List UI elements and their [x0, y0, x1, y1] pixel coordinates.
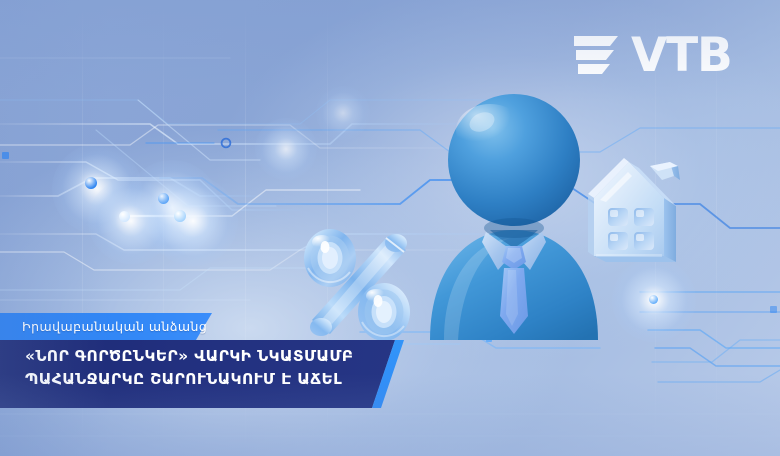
banner-vignette [0, 0, 780, 456]
vtb-promo-banner: Իրավաբանական անձանց «ՆՈՐ ԳՈՐԾԸՆԿԵՐ» ՎԱՐԿ… [0, 0, 780, 456]
